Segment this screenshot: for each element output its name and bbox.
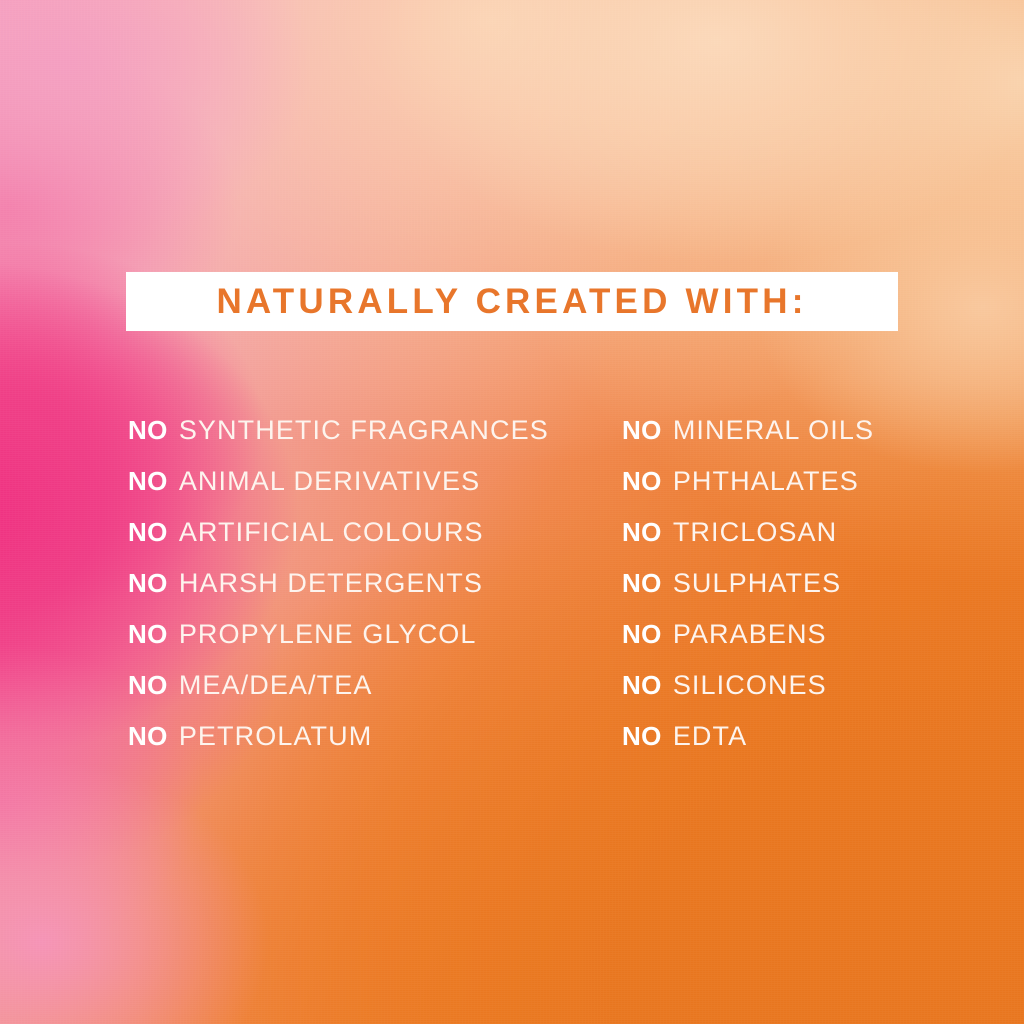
claim-row: NOMINERAL OILS xyxy=(622,405,874,456)
claim-label: PROPYLENE GLYCOL xyxy=(179,619,477,650)
claim-prefix: NO xyxy=(128,568,168,599)
claim-prefix: NO xyxy=(128,619,168,650)
claim-label: HARSH DETERGENTS xyxy=(179,568,483,599)
claim-label: MEA/DEA/TEA xyxy=(179,670,373,701)
claim-prefix: NO xyxy=(622,466,662,497)
claims-left-column: NOSYNTHETIC FRAGRANCESNOANIMAL DERIVATIV… xyxy=(128,405,549,762)
claim-row: NOMEA/DEA/TEA xyxy=(128,660,549,711)
claim-row: NOPETROLATUM xyxy=(128,711,549,762)
claim-prefix: NO xyxy=(622,568,662,599)
claim-row: NOPARABENS xyxy=(622,609,874,660)
claim-row: NOTRICLOSAN xyxy=(622,507,874,558)
claim-label: ARTIFICIAL COLOURS xyxy=(179,517,484,548)
claims-right-column: NOMINERAL OILSNOPHTHALATESNOTRICLOSANNOS… xyxy=(622,405,874,762)
claim-prefix: NO xyxy=(622,721,662,752)
claim-prefix: NO xyxy=(622,415,662,446)
claim-row: NOANIMAL DERIVATIVES xyxy=(128,456,549,507)
claim-label: ANIMAL DERIVATIVES xyxy=(179,466,480,497)
claim-label: PETROLATUM xyxy=(179,721,373,752)
claim-label: EDTA xyxy=(673,721,747,752)
claim-label: SILICONES xyxy=(673,670,827,701)
claim-label: MINERAL OILS xyxy=(673,415,874,446)
claim-row: NOPHTHALATES xyxy=(622,456,874,507)
claim-prefix: NO xyxy=(128,670,168,701)
claim-prefix: NO xyxy=(622,517,662,548)
claim-label: TRICLOSAN xyxy=(673,517,837,548)
claim-prefix: NO xyxy=(128,721,168,752)
claim-prefix: NO xyxy=(128,466,168,497)
claim-row: NOPROPYLENE GLYCOL xyxy=(128,609,549,660)
claim-label: PARABENS xyxy=(673,619,827,650)
title-banner: NATURALLY CREATED WITH: xyxy=(126,272,898,331)
claim-label: SYNTHETIC FRAGRANCES xyxy=(179,415,549,446)
claim-label: PHTHALATES xyxy=(673,466,859,497)
claim-row: NOSYNTHETIC FRAGRANCES xyxy=(128,405,549,456)
claim-prefix: NO xyxy=(128,415,168,446)
claim-label: SULPHATES xyxy=(673,568,841,599)
claim-row: NOEDTA xyxy=(622,711,874,762)
claim-prefix: NO xyxy=(622,670,662,701)
claim-row: NOSILICONES xyxy=(622,660,874,711)
claim-row: NOSULPHATES xyxy=(622,558,874,609)
claim-prefix: NO xyxy=(622,619,662,650)
page-title: NATURALLY CREATED WITH: xyxy=(216,282,807,322)
claim-prefix: NO xyxy=(128,517,168,548)
claim-row: NOARTIFICIAL COLOURS xyxy=(128,507,549,558)
poster-canvas: NATURALLY CREATED WITH: NOSYNTHETIC FRAG… xyxy=(0,0,1024,1024)
claim-row: NOHARSH DETERGENTS xyxy=(128,558,549,609)
